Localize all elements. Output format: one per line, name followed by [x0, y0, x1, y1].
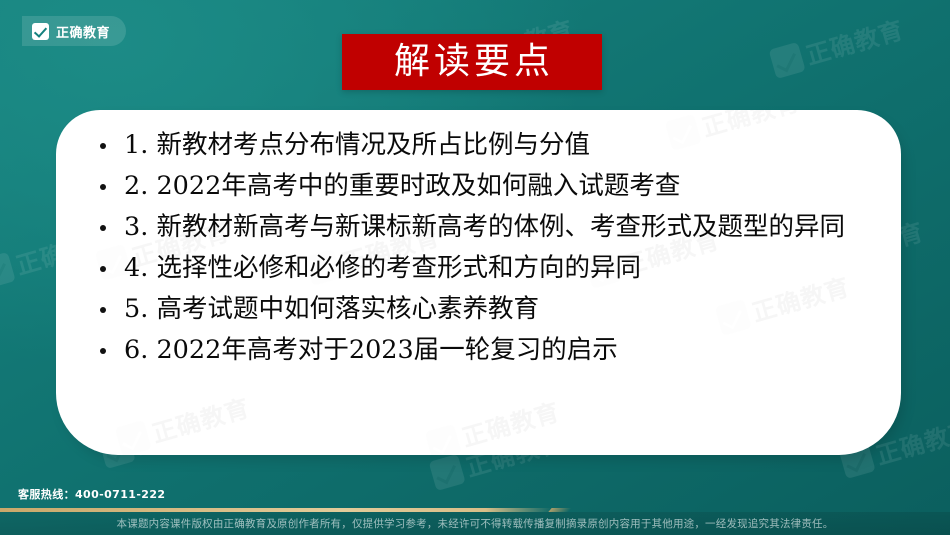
list-item-number: 3.	[124, 212, 148, 242]
list-item-label: 2022年高考对于2023届一轮复习的启示	[156, 335, 617, 365]
watermark-check-icon	[768, 41, 805, 78]
list-item-number: 4.	[124, 253, 148, 283]
watermark-tile: 正确教育	[768, 10, 907, 81]
watermark-tile: 正确教育	[424, 392, 563, 455]
list-item: 5. 高考试题中如何落实核心素养教育	[78, 290, 875, 328]
page-title-banner: 解读要点	[342, 34, 602, 90]
list-item: 6. 2022年高考对于2023届一轮复习的启示	[78, 331, 875, 369]
key-points-list: 1. 新教材考点分布情况及所占比例与分值 2. 2022年高考中的重要时政及如何…	[78, 126, 875, 369]
list-item: 2. 2022年高考中的重要时政及如何融入试题考查	[78, 167, 875, 205]
page-title: 解读要点	[390, 44, 554, 80]
list-item: 3. 新教材新高考与新课标新高考的体例、考查形式及题型的异同	[78, 208, 875, 246]
customer-hotline: 客服热线：400-0711-222	[18, 486, 165, 502]
brand-logo-badge: 正确教育	[22, 16, 126, 46]
slide-root: 正确教育 正确教育 正确教育 正确教育 正确教育 正确教育 正确教育 正确教育	[0, 0, 950, 535]
list-item: 4. 选择性必修和必修的考查形式和方向的异同	[78, 249, 875, 287]
watermark-check-icon	[0, 251, 16, 288]
list-item-number: 1.	[124, 130, 148, 160]
list-item-number: 6.	[124, 335, 148, 365]
list-item-label: 高考试题中如何落实核心素养教育	[156, 294, 539, 324]
watermark-label: 正确教育	[801, 10, 907, 71]
list-item-label: 新教材新高考与新课标新高考的体例、考查形式及题型的异同	[156, 212, 845, 242]
list-item: 1. 新教材考点分布情况及所占比例与分值	[78, 126, 875, 164]
watermark-check-icon	[114, 419, 151, 455]
list-item-label: 2022年高考中的重要时政及如何融入试题考查	[156, 171, 680, 201]
list-item-label: 选择性必修和必修的考查形式和方向的异同	[156, 253, 641, 283]
copyright-disclaimer: 本课题内容课件版权由正确教育及原创作者所有，仅提供学习参考，未经许可不得转载传播…	[0, 512, 950, 535]
brand-logo-label: 正确教育	[56, 22, 110, 41]
list-item-number: 5.	[124, 294, 148, 324]
content-card-body: 1. 新教材考点分布情况及所占比例与分值 2. 2022年高考中的重要时政及如何…	[56, 110, 901, 369]
watermark-label: 正确教育	[457, 392, 563, 453]
watermark-check-icon	[424, 423, 461, 455]
watermark-label: 正确教育	[147, 388, 253, 449]
list-item-number: 2.	[124, 171, 148, 201]
watermark-tile: 正确教育	[114, 388, 253, 455]
list-item-label: 新教材考点分布情况及所占比例与分值	[156, 130, 590, 160]
checkbox-check-icon	[32, 23, 49, 40]
content-card: 正确教育 正确教育 正确教育 正确教育 正确教育 正确教育	[56, 110, 901, 455]
